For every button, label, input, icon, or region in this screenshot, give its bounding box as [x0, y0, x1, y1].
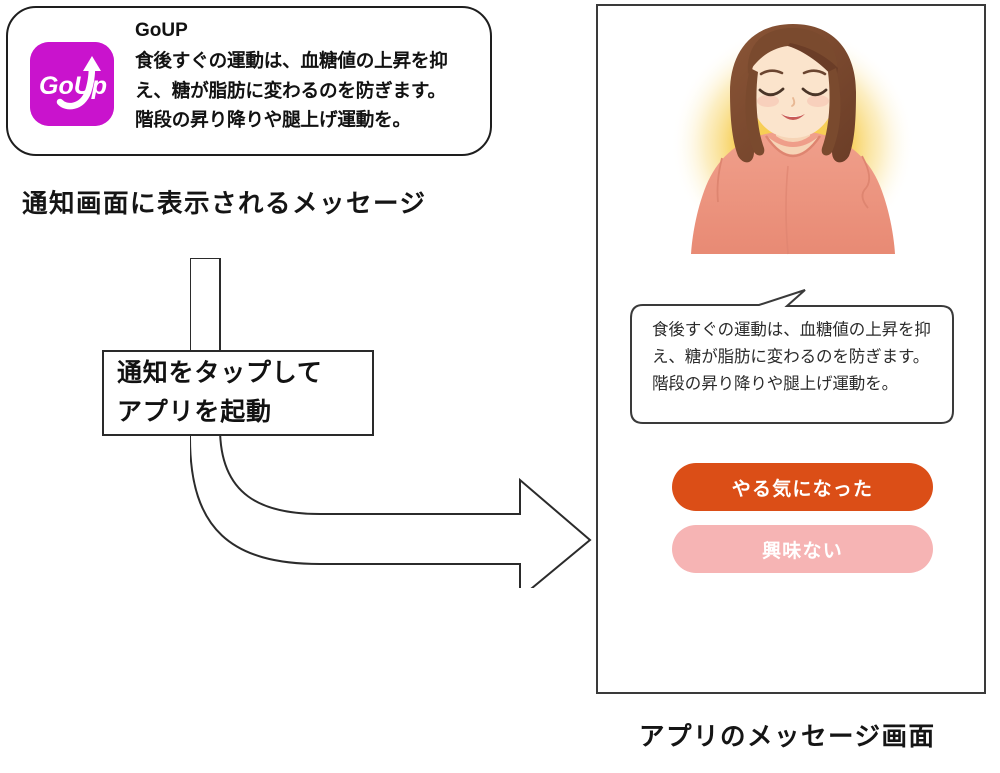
not-interested-button[interactable]: 興味ない: [672, 525, 933, 573]
goup-app-icon: GoUp: [30, 42, 114, 126]
notification-card[interactable]: GoUp GoUP 食後すぐの運動は、血糖値の上昇を抑 え、糖が脂肪に変わるのを…: [6, 6, 492, 156]
app-message-screen: 食後すぐの運動は、血糖値の上昇を抑 え、糖が脂肪に変わるのを防ぎます。 階段の昇…: [596, 4, 986, 694]
caption-app-message-screen: アプリのメッセージ画面: [639, 716, 936, 753]
speech-bubble-text: 食後すぐの運動は、血糖値の上昇を抑 え、糖が脂肪に変わるのを防ぎます。 階段の昇…: [652, 317, 942, 398]
smiling-woman-illustration: [598, 6, 986, 276]
svg-text:GoUp: GoUp: [39, 72, 107, 100]
arrow-label-text: 通知をタップして アプリを起動: [117, 354, 372, 432]
notification-body: 食後すぐの運動は、血糖値の上昇を抑 え、糖が脂肪に変わるのを防ぎます。 階段の昇…: [135, 46, 485, 135]
motivated-button[interactable]: やる気になった: [672, 463, 933, 511]
speech-bubble: 食後すぐの運動は、血糖値の上昇を抑 え、糖が脂肪に変わるのを防ぎます。 階段の昇…: [629, 287, 955, 427]
notification-app-name: GoUP: [135, 16, 485, 46]
arrow-label-box: 通知をタップして アプリを起動: [102, 350, 374, 436]
notification-text-block: GoUP 食後すぐの運動は、血糖値の上昇を抑 え、糖が脂肪に変わるのを防ぎます。…: [135, 16, 485, 135]
caption-notification-screen: 通知画面に表示されるメッセージ: [22, 183, 427, 220]
